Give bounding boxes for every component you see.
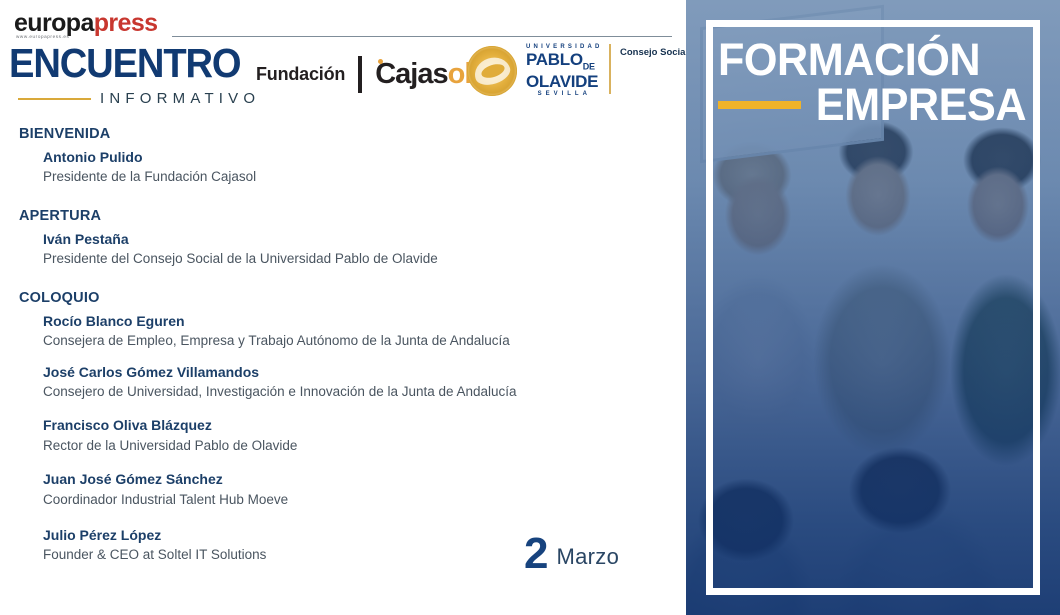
speaker-name: Juan José Gómez Sánchez: [43, 469, 686, 489]
logo-separator: [358, 56, 362, 93]
program-section-apertura: APERTURA Iván Pestaña Presidente del Con…: [0, 208, 686, 290]
event-poster: europapress www.europapress.es ENCUENTRO…: [0, 0, 1060, 615]
upo-name-line2: OLAVIDE: [526, 74, 603, 90]
cajasol-logo: Fundación Cajasol: [256, 56, 471, 93]
section-spacer: [0, 280, 686, 290]
consejo-social-label: Consejo Social: [620, 47, 688, 58]
speaker-item: Rocío Blanco Eguren Consejera de Empleo,…: [43, 311, 686, 351]
speaker-name: Rocío Blanco Eguren: [43, 311, 686, 331]
section-title: APERTURA: [19, 208, 686, 224]
panel-title-line1: FORMACIÓN: [718, 38, 1016, 82]
speaker-item: Antonio Pulido Presidente de la Fundació…: [43, 147, 686, 187]
event-day: 2: [524, 536, 547, 571]
upo-seal-icon: [467, 46, 517, 96]
speaker-role: Rector de la Universidad Pablo de Olavid…: [43, 436, 686, 456]
brand-europa: europa: [14, 9, 94, 37]
event-date: 2 Marzo: [524, 536, 619, 571]
event-subtitle-row: INFORMATIVO: [18, 90, 260, 107]
panel-title-line2-row: EMPRESA: [718, 83, 1026, 127]
speaker-item: Francisco Oliva Blázquez Rector de la Un…: [43, 415, 686, 455]
fundacion-label: Fundación: [256, 64, 345, 85]
brand-url: www.europapress.es: [16, 35, 69, 40]
cajasol-name-dark: Caja: [375, 58, 432, 90]
speaker-item: Iván Pestaña Presidente del Consejo Soci…: [43, 229, 686, 269]
upo-pablo: PABLO: [526, 50, 583, 69]
speaker-name: Iván Pestaña: [43, 229, 686, 249]
gold-dash-decoration: [18, 98, 91, 100]
left-content-panel: europapress www.europapress.es ENCUENTRO…: [0, 0, 686, 615]
speaker-item: Juan José Gómez Sánchez Coordinador Indu…: [43, 469, 686, 509]
event-subtitle: INFORMATIVO: [100, 90, 260, 107]
event-title: ENCUENTRO: [9, 43, 240, 84]
speaker-role: Presidente del Consejo Social de la Univ…: [43, 249, 686, 269]
speaker-item: José Carlos Gómez Villamandos Consejero …: [43, 362, 686, 402]
section-title: BIENVENIDA: [19, 126, 686, 142]
consejo-separator: [609, 44, 611, 94]
upo-name-line1: PABLODE: [526, 52, 603, 71]
panel-title-block: FORMACIÓN EMPRESA: [718, 38, 1028, 127]
program-section-bienvenida: BIENVENIDA Antonio Pulido Presidente de …: [0, 126, 686, 208]
gold-bar-decoration: [718, 101, 801, 109]
event-month: Marzo: [556, 546, 619, 571]
upo-city-label: SEVILLA: [526, 91, 603, 97]
speaker-role: Presidente de la Fundación Cajasol: [43, 167, 686, 187]
upo-de: DE: [583, 61, 595, 71]
panel-title-line2: EMPRESA: [816, 83, 1026, 127]
speaker-name: Antonio Pulido: [43, 147, 686, 167]
speaker-role: Consejera de Empleo, Empresa y Trabajo A…: [43, 331, 686, 351]
upo-logo: UNIVERSIDAD PABLODE OLAVIDE SEVILLA: [467, 44, 603, 97]
speaker-role: Coordinador Industrial Talent Hub Moeve: [43, 490, 686, 510]
right-image-panel: FORMACIÓN EMPRESA: [686, 0, 1060, 615]
upo-wordmark: UNIVERSIDAD PABLODE OLAVIDE SEVILLA: [526, 44, 603, 97]
speaker-name: Francisco Oliva Blázquez: [43, 415, 686, 435]
europapress-logo: europapress www.europapress.es: [14, 11, 157, 36]
cajasol-name-accent: s: [432, 58, 447, 90]
header-divider-rule: [172, 36, 672, 37]
speaker-role: Consejero de Universidad, Investigación …: [43, 382, 686, 402]
header: europapress www.europapress.es ENCUENTRO…: [0, 0, 686, 118]
section-spacer: [0, 198, 686, 208]
brand-press: press: [94, 9, 158, 37]
program-section-coloquio: COLOQUIO Rocío Blanco Eguren Consejera d…: [0, 290, 686, 565]
speaker-name: José Carlos Gómez Villamandos: [43, 362, 686, 382]
section-title: COLOQUIO: [19, 290, 686, 306]
program-list: BIENVENIDA Antonio Pulido Presidente de …: [0, 126, 686, 576]
cajasol-wordmark: Cajasol: [375, 60, 471, 89]
